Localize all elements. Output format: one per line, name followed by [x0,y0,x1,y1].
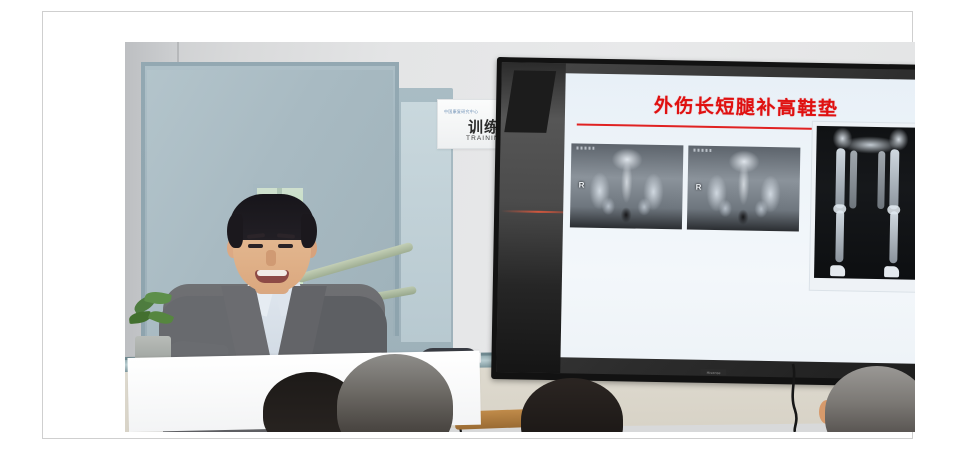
tv-brand-badge-text: Hisense [701,370,727,374]
presenter-hair-side-left [227,214,243,248]
presenter-eye-left [248,244,263,248]
xray-pelvis-right: R [687,146,801,232]
xray-tibia-right [889,211,898,263]
plant-leaf [148,308,174,327]
screen-reflection [496,62,566,373]
slide-title: 外伤长短腿补高鞋垫 [565,89,915,123]
tv-screen[interactable]: 外伤长短腿补高鞋垫 R R [496,62,915,380]
presentation-photo: 中国康复研究中心 训练室 TRAINING ROOM 外伤长短腿补高鞋垫 [125,42,915,432]
xray-side-marker-left: R [579,180,585,189]
xray-film-tick [693,149,711,152]
photo-frame: 中国康复研究中心 训练室 TRAINING ROOM 外伤长短腿补高鞋垫 [42,11,913,439]
slide-surface: 外伤长短腿补高鞋垫 R R [561,73,915,364]
screen-reflection-dark [504,70,556,133]
presenter-eye-right [278,244,293,248]
presenter-teeth [257,270,287,276]
sign-logo-text: 中国康复研究中心 [444,109,478,115]
page-root: 中国康复研究中心 训练室 TRAINING ROOM 外伤长短腿补高鞋垫 [0,0,956,450]
presenter-nose [266,250,276,266]
xray-full-leg [810,122,915,292]
xray-foot-left [830,265,845,276]
presenter-hair-side-right [301,214,317,248]
television: 外伤长短腿补高鞋垫 R R [491,57,915,387]
xray-femur-right [889,149,899,209]
xray-film-tick [576,146,594,149]
xray-femur-right-inner [877,151,885,209]
potted-plant-foliage [127,290,183,340]
xray-full-leg-film [814,126,915,280]
xray-side-marker-right: R [696,183,702,192]
xray-tibia-left [835,210,844,262]
xray-pelvis-left: R [570,143,684,229]
xray-femur-left [835,148,845,208]
xray-foot-right [884,266,899,277]
xray-femur-left-inner [849,150,857,208]
